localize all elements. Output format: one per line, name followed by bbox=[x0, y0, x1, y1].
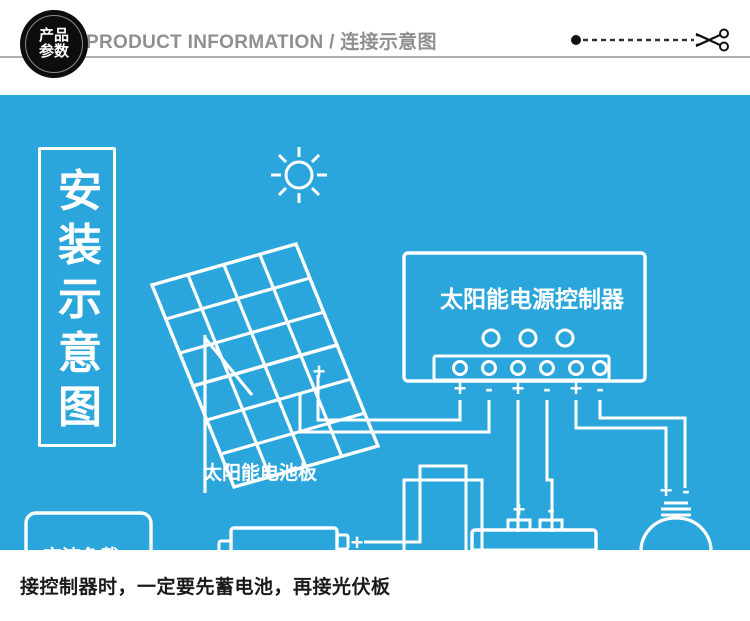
diagram-title-char-2: 装 bbox=[58, 219, 102, 273]
scissors-icon bbox=[696, 30, 728, 51]
controller-leds bbox=[483, 330, 573, 346]
dc-load-sign-negative: - bbox=[682, 478, 689, 503]
controller-terminal-sign-3: + bbox=[512, 376, 525, 401]
solar-panel-sign-positive: + bbox=[313, 359, 326, 384]
dc-load-sign-positive: + bbox=[660, 478, 673, 503]
caption-text: 接控制器时，一定要先蓄电池，再接光伏板 bbox=[20, 572, 391, 599]
label-controller: 太阳能电源控制器 bbox=[440, 280, 624, 314]
wiring-diagram-panel: + - + - + - + - + - + - + - 安 装 示 意 图 bbox=[0, 95, 750, 550]
sun-icon bbox=[271, 147, 327, 203]
badge-label-line-2: 参数 bbox=[39, 44, 69, 60]
controller-terminal-sign-2: - bbox=[485, 376, 492, 401]
battery-sign-positive: + bbox=[513, 497, 526, 522]
diagram-title-char-1: 安 bbox=[58, 165, 102, 219]
badge-label-line-1: 产品 bbox=[39, 28, 69, 44]
cut-here-decoration bbox=[570, 28, 730, 52]
controller-terminal-sign-5: + bbox=[570, 376, 583, 401]
inverter-sign-positive: + bbox=[351, 530, 364, 550]
controller-terminal-sign-4: - bbox=[543, 376, 550, 401]
battery-sign-negative: - bbox=[547, 497, 554, 522]
solar-panel-array bbox=[152, 244, 337, 386]
controller-terminal-sign-1: + bbox=[454, 376, 467, 401]
badge-label: 产品 参数 bbox=[20, 10, 88, 78]
footer-caption: 接控制器时，一定要先蓄电池，再接光伏板 bbox=[0, 550, 750, 621]
diagram-title-char-4: 意 bbox=[58, 327, 102, 381]
solar-panel-sign-negative: - bbox=[295, 380, 302, 405]
diagram-title-box: 安 装 示 意 图 bbox=[38, 147, 116, 447]
page-header: 产品 参数 PRODUCT INFORMATION / 连接示意图 bbox=[0, 0, 750, 95]
diagram-title-char-5: 图 bbox=[58, 381, 102, 435]
wire-inverter-battery bbox=[364, 466, 482, 550]
label-ac-load: 交流负载 bbox=[43, 542, 119, 550]
header-divider bbox=[0, 56, 750, 58]
diagram-title-char-3: 示 bbox=[58, 273, 102, 327]
label-solar-panel: 太阳能电池板 bbox=[203, 458, 317, 485]
wire-bundle bbox=[300, 391, 685, 532]
controller-terminal-sign-6: - bbox=[596, 376, 603, 401]
cut-line-dot bbox=[571, 35, 581, 45]
diagram-title-vertical: 安 装 示 意 图 bbox=[41, 150, 119, 450]
product-parameters-badge: 产品 参数 bbox=[20, 10, 88, 78]
battery-box bbox=[472, 520, 596, 550]
dc-load-bulb bbox=[621, 503, 731, 550]
page-title: PRODUCT INFORMATION / 连接示意图 bbox=[86, 27, 437, 54]
